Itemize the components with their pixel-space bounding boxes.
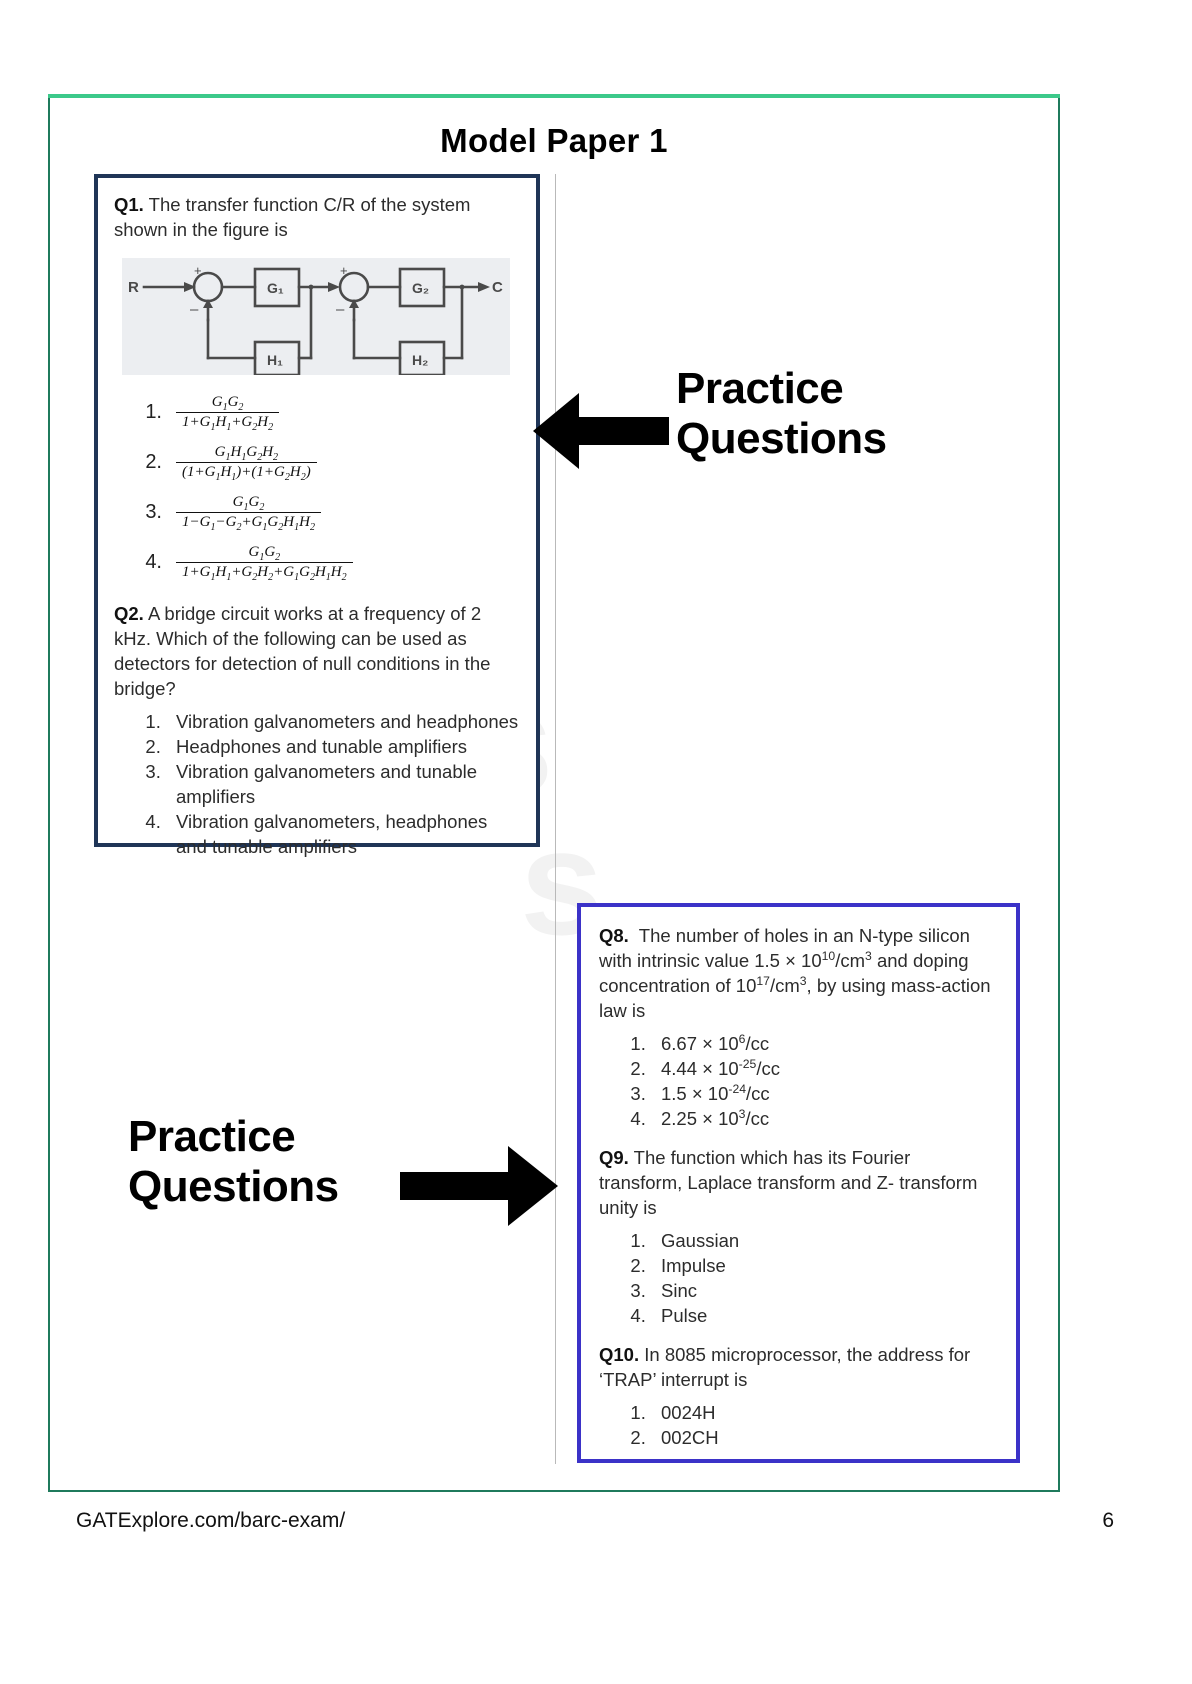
q8-sup1: 10 [822,949,836,963]
q8-option-list: 6.67 × 106/cc 4.44 × 10-25/cc 1.5 × 10-2… [599,1031,998,1131]
q8-sup3: 17 [756,974,770,988]
block-diagram-figure: R + – G₁ [122,258,510,375]
callout-top-line1: Practice [676,364,1026,414]
q8-option[interactable]: 2.25 × 103/cc [651,1106,998,1131]
q8-option-unit: /cc [745,1033,769,1054]
callout-top-line2: Questions [676,414,1026,464]
q1-option[interactable]: 4. G1G2 1+G1H1+G2H2+G1G2H1H2 [114,539,520,585]
q1-option-formula: G1G2 1−G1−G2+G1G2H1H2 [176,494,321,531]
q2-option-list: Vibration galvanometers and headphones H… [114,709,520,859]
q9-option[interactable]: Gaussian [651,1228,998,1253]
q1-option[interactable]: 2. G1H1G2H2 (1+G1H1)+(1+G2H2) [114,439,520,485]
q1-option[interactable]: 3. G1G2 1−G1−G2+G1G2H1H2 [114,489,520,535]
q9-text: The function which has its Fourier trans… [599,1147,977,1218]
q8-option-mantissa: 6.67 × 10 [661,1033,739,1054]
svg-text:R: R [128,279,139,296]
q2-label: Q2. [114,603,144,624]
q9-option[interactable]: Impulse [651,1253,998,1278]
question-q1: Q1. The transfer function C/R of the sys… [114,192,520,242]
annotation-arrow-right-icon [400,1140,558,1237]
question-q8: Q8. The number of holes in an N-type sil… [599,923,998,1023]
svg-text:G₁: G₁ [267,280,284,296]
q1-option-formula: G1H1G2H2 (1+G1H1)+(1+G2H2) [176,444,317,481]
q8-sup4: 3 [800,974,807,988]
q8-option-unit: /cc [756,1058,780,1079]
annotation-arrow-left-icon [533,387,669,480]
svg-text:–: – [336,301,345,318]
q10-text: In 8085 microprocessor, the address for … [599,1344,970,1390]
q9-label: Q9. [599,1147,629,1168]
q8-option[interactable]: 4.44 × 10-25/cc [651,1056,998,1081]
page-top-accent-bar [48,94,1060,98]
q2-option[interactable]: Vibration galvanometers and tunable ampl… [166,759,520,809]
question-card-left: Q1. The transfer function C/R of the sys… [94,174,540,847]
q8-text-part4: /cm [770,975,800,996]
q8-option-mantissa: 4.44 × 10 [661,1058,739,1079]
q8-option-mantissa: 1.5 × 10 [661,1083,728,1104]
question-q2: Q2. A bridge circuit works at a frequenc… [114,601,520,701]
q1-option-list: 1. G1G2 1+G1H1+G2H2 2. G1H1G2H2 (1+G1H1)… [114,389,520,585]
q1-text: The transfer function C/R of the system … [114,194,470,240]
q8-label: Q8. [599,925,629,946]
q9-option[interactable]: Sinc [651,1278,998,1303]
svg-text:H₁: H₁ [267,352,283,368]
q1-option-number: 4. [114,551,176,574]
document-page-frame: s s Model Paper 1 Q1. The transfer funct… [48,94,1060,1492]
q1-option-number: 1. [114,401,176,424]
q8-option[interactable]: 1.5 × 10-24/cc [651,1081,998,1106]
svg-text:C: C [492,279,503,296]
footer-url[interactable]: GATExplore.com/barc-exam/ [76,1509,345,1533]
svg-text:+: + [194,263,202,278]
q8-option-mantissa: 2.25 × 10 [661,1108,739,1129]
q8-sup2: 3 [865,949,872,963]
footer-page-number: 6 [1102,1509,1114,1533]
q1-label: Q1. [114,194,144,215]
question-card-right: Q8. The number of holes in an N-type sil… [577,903,1020,1463]
q2-text: A bridge circuit works at a frequency of… [114,603,490,699]
question-q10: Q10. In 8085 microprocessor, the address… [599,1342,998,1392]
q8-text-part2: /cm [835,950,865,971]
q8-option-unit: /cc [746,1083,770,1104]
q1-option-number: 2. [114,451,176,474]
q1-option-formula: G1G2 1+G1H1+G2H2+G1G2H1H2 [176,544,353,581]
q2-option[interactable]: Vibration galvanometers and headphones [166,709,520,734]
q10-option[interactable]: 0024H [651,1400,998,1425]
svg-text:+: + [340,263,348,278]
q8-option-unit: /cc [745,1108,769,1129]
q1-option-number: 3. [114,501,176,524]
annotation-practice-questions-top: Practice Questions [676,364,1026,464]
q8-option-exponent: -25 [739,1057,757,1071]
svg-text:–: – [190,301,199,318]
column-divider [555,174,556,1464]
q9-option-list: Gaussian Impulse Sinc Pulse [599,1228,998,1328]
q9-option[interactable]: Pulse [651,1303,998,1328]
q8-option-exponent: -24 [728,1082,746,1096]
q10-label: Q10. [599,1344,639,1365]
question-q9: Q9. The function which has its Fourier t… [599,1145,998,1220]
q8-option[interactable]: 6.67 × 106/cc [651,1031,998,1056]
q10-option[interactable]: 002CH [651,1425,998,1450]
q10-option-list: 0024H 002CH [599,1400,998,1450]
q1-option-formula: G1G2 1+G1H1+G2H2 [176,394,279,431]
q1-option[interactable]: 1. G1G2 1+G1H1+G2H2 [114,389,520,435]
q2-option[interactable]: Vibration galvanometers, headphones and … [166,809,520,859]
svg-text:H₂: H₂ [412,352,428,368]
page-title: Model Paper 1 [50,122,1058,160]
svg-text:G₂: G₂ [412,280,429,296]
q2-option[interactable]: Headphones and tunable amplifiers [166,734,520,759]
